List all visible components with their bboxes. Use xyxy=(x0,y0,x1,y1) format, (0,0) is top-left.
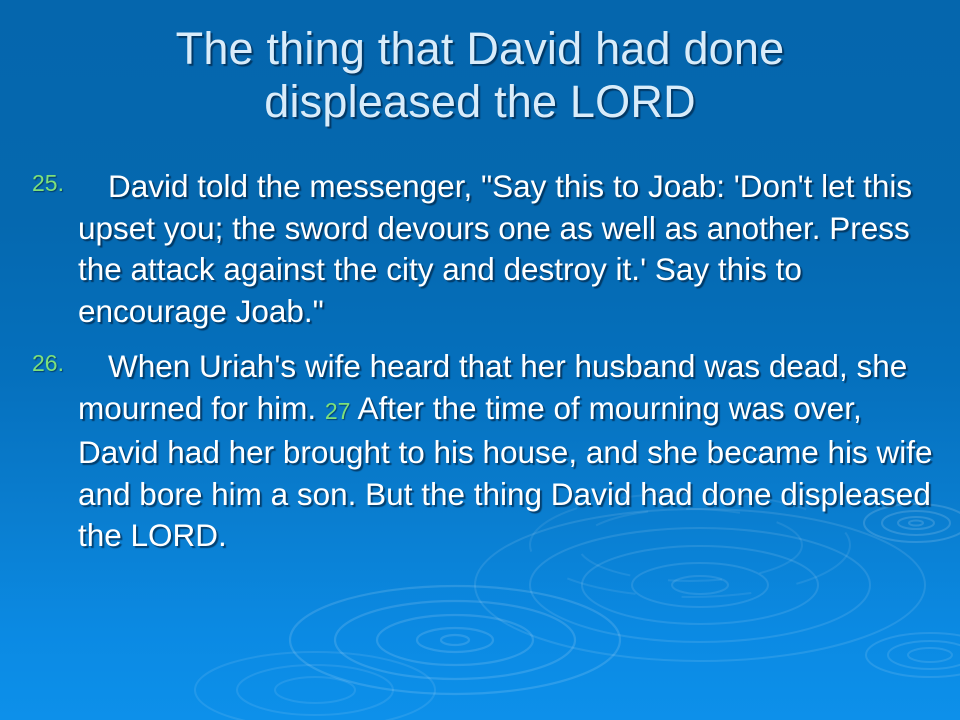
numbered-paragraph: 25. David told the messenger, "Say this … xyxy=(26,166,934,332)
slide-body: 25. David told the messenger, "Say this … xyxy=(26,166,934,557)
paragraph-text: David told the messenger, "Say this to J… xyxy=(78,166,934,332)
paragraph-text-main: David told the messenger, "Say this to J… xyxy=(78,168,912,329)
slide-title-line-2: displeased the LORD xyxy=(48,75,912,128)
inline-verse-number: 27 xyxy=(325,398,351,424)
slide-title-line-1: The thing that David had done xyxy=(48,22,912,75)
slide-canvas: The thing that David had done displeased… xyxy=(0,0,960,720)
slide-title: The thing that David had done displeased… xyxy=(48,22,912,128)
paragraph-text: When Uriah's wife heard that her husband… xyxy=(78,346,934,557)
verse-number-marker: 25. xyxy=(32,172,76,195)
verse-number-marker: 26. xyxy=(32,352,76,375)
numbered-paragraph: 26. When Uriah's wife heard that her hus… xyxy=(26,346,934,557)
